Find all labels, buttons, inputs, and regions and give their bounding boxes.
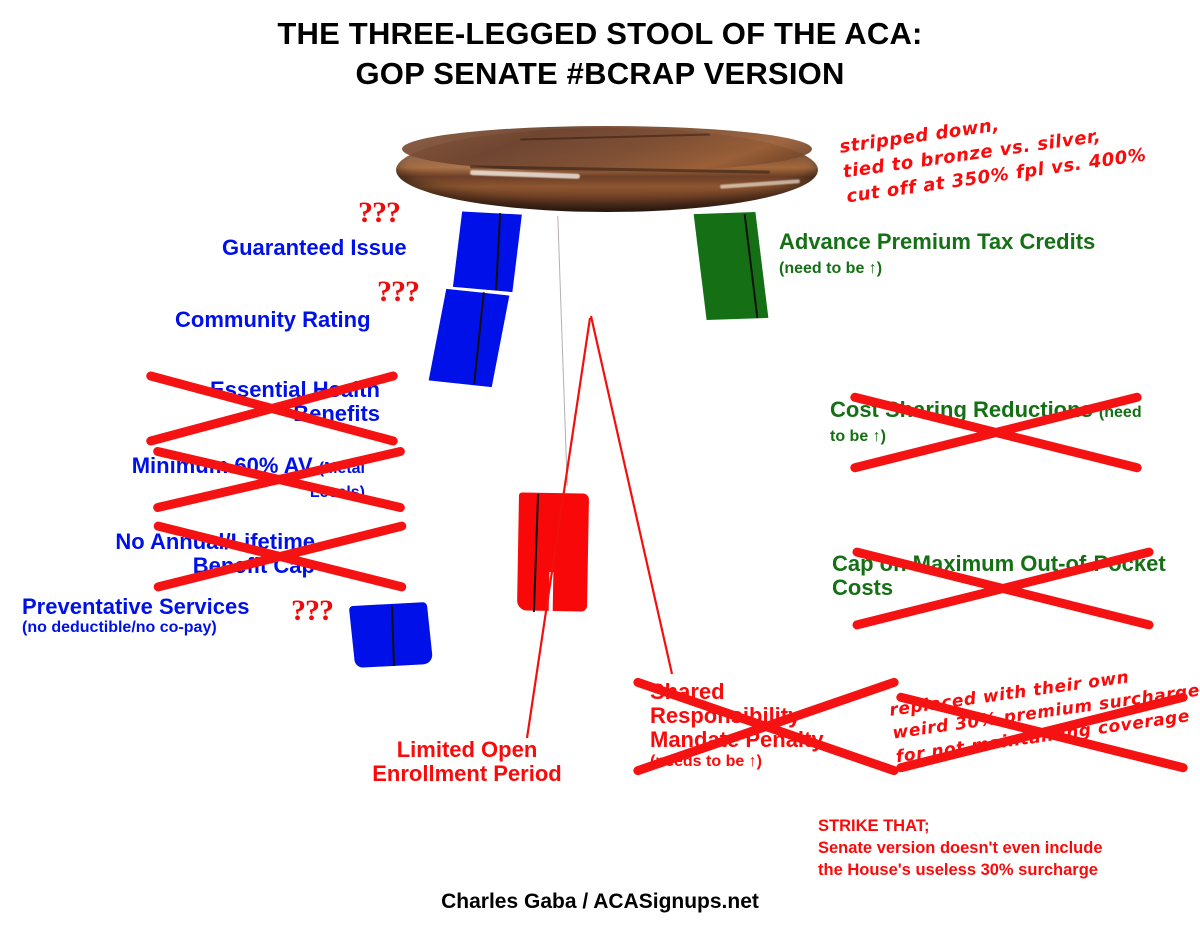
strike-that-line-1: STRIKE THAT; xyxy=(818,816,1198,838)
footer-credit: Charles Gaba / ACASignups.net xyxy=(0,890,1200,914)
question-marks-preventative-services: ??? xyxy=(291,594,333,628)
label-guaranteed-issue: Guaranteed Issue xyxy=(222,236,407,260)
annotation-advance-premium-tax-credits: stripped down, tied to bronze vs. silver… xyxy=(838,94,1148,210)
label-minimum-av-sub: (Metal Levels) xyxy=(310,460,365,501)
stool-leg-blue-lower xyxy=(429,289,510,387)
stool-leg-blue-upper xyxy=(452,211,522,296)
label-apt-sub: (need to be ↑) xyxy=(779,260,882,277)
note-strike-that: STRIKE THAT; Senate version doesn't even… xyxy=(818,816,1198,881)
label-minimum-av: Minimum 60% AV (Metal Levels) xyxy=(125,454,365,502)
label-apt-main: Advance Premium Tax Credits xyxy=(779,229,1095,254)
leader-line-mandate xyxy=(591,316,672,674)
label-no-annual-lifetime-benefit-cap: No Annual/Lifetime Benefit Cap xyxy=(70,530,315,578)
stool-leg-red-fragment xyxy=(517,492,589,611)
label-preventative-services-sub: (no deductible/no co-pay) xyxy=(22,619,250,637)
label-advance-premium-tax-credits: Advance Premium Tax Credits (need to be … xyxy=(779,230,1109,278)
label-cost-sharing-reductions: Cost Sharing Reductions (need to be ↑) xyxy=(830,398,1160,446)
page-title: THE THREE-LEGGED STOOL OF THE ACA: GOP S… xyxy=(0,14,1200,93)
label-mandate-main: Shared Responsibility Mandate Penalty xyxy=(650,680,880,753)
infographic-canvas: THE THREE-LEGGED STOOL OF THE ACA: GOP S… xyxy=(0,0,1200,930)
label-shared-responsibility-mandate-penalty: Shared Responsibility Mandate Penalty (n… xyxy=(650,680,880,770)
title-line-2: GOP SENATE #BCRAP VERSION xyxy=(0,54,1200,94)
question-marks-community-rating: ??? xyxy=(377,275,419,309)
label-essential-health-benefits: Essential Health Benefits xyxy=(170,378,380,426)
label-community-rating: Community Rating xyxy=(175,308,371,332)
label-preventative-services: Preventative Services (no deductible/no … xyxy=(22,595,250,637)
stool-leg-green xyxy=(694,212,769,320)
label-minimum-av-main: Minimum 60% AV xyxy=(132,453,313,478)
label-csr-main: Cost Sharing Reductions xyxy=(830,397,1093,422)
label-mandate-sub: (needs to be ↑) xyxy=(650,753,880,771)
label-limited-open-enrollment-period: Limited Open Enrollment Period xyxy=(357,738,577,786)
leg-notch xyxy=(549,572,554,614)
annotation-premium-surcharge: replaced with their own weird 30% premiu… xyxy=(888,657,1200,770)
label-out-of-pocket-cap: Cap on Maximum Out-of-Pocket Costs xyxy=(832,552,1172,600)
title-line-1: THE THREE-LEGGED STOOL OF THE ACA: xyxy=(0,14,1200,54)
stool-seat-surface xyxy=(402,126,812,172)
question-marks-guaranteed-issue: ??? xyxy=(358,196,400,230)
label-preventative-services-main: Preventative Services xyxy=(22,595,250,619)
strike-that-line-3: the House's useless 30% surcharge xyxy=(818,860,1198,882)
missing-leg-guide-line xyxy=(557,216,567,486)
strike-that-line-2: Senate version doesn't even include xyxy=(818,838,1198,860)
